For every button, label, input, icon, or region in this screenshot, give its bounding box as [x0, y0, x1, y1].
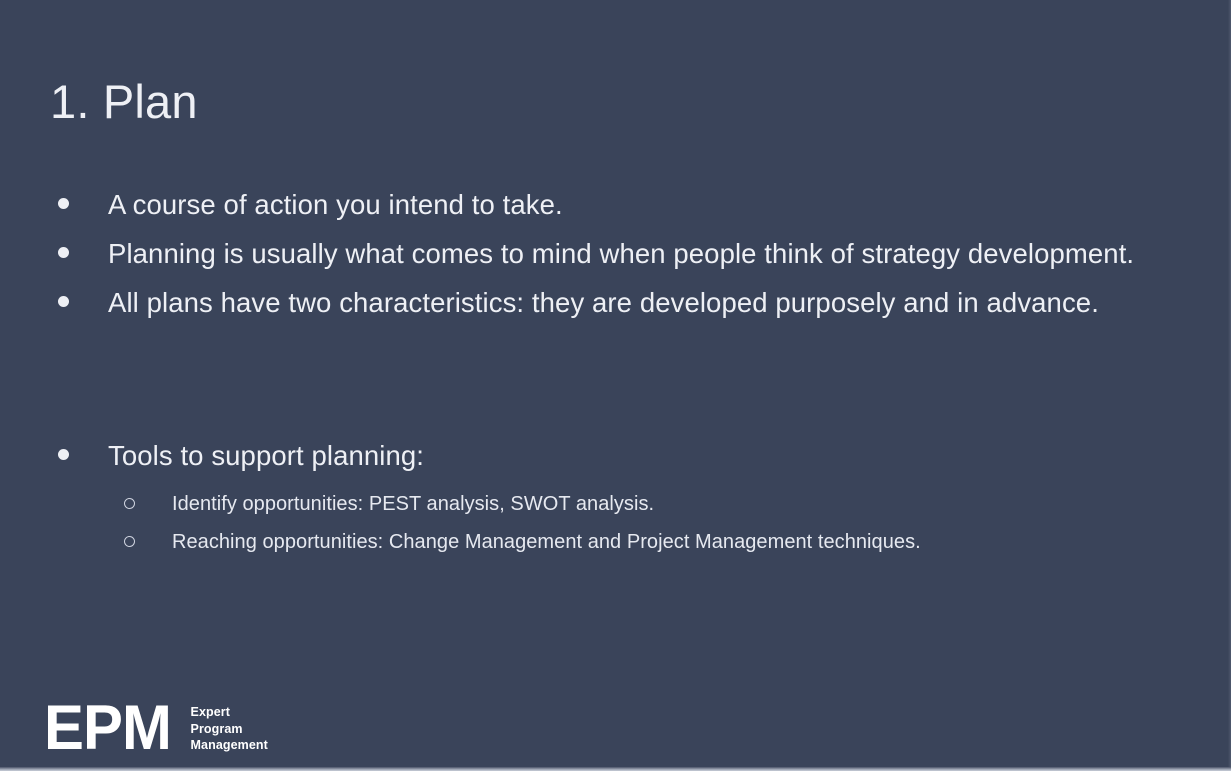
epm-logo-line-3: Management	[191, 737, 268, 754]
bullet-text: All plans have two characteristics: they…	[108, 279, 1160, 326]
bullet-disc-icon	[50, 230, 108, 277]
bullet-item: Planning is usually what comes to mind w…	[50, 230, 1160, 277]
empty-bullet-spacer	[50, 328, 1160, 432]
sub-bullet-item: Identify opportunities: PEST analysis, S…	[50, 487, 1160, 522]
sub-bullet-list: Identify opportunities: PEST analysis, S…	[50, 487, 1160, 560]
epm-logo-line-2: Program	[191, 721, 268, 738]
epm-logo-mark: EPM	[44, 700, 171, 758]
presentation-slide: 1. Plan A course of action you intend to…	[0, 0, 1231, 771]
sub-bullet-text: Reaching opportunities: Change Managemen…	[172, 525, 1160, 560]
bullet-disc-icon	[50, 279, 108, 326]
bullet-item: All plans have two characteristics: they…	[50, 279, 1160, 326]
slide-body-content: A course of action you intend to take. P…	[50, 181, 1160, 563]
bullet-text: A course of action you intend to take.	[108, 181, 1160, 228]
slide-bottom-edge	[0, 767, 1231, 771]
bullet-text: Tools to support planning:	[108, 432, 1160, 479]
sub-bullet-text: Identify opportunities: PEST analysis, S…	[172, 487, 1160, 522]
sub-bullet-item: Reaching opportunities: Change Managemen…	[50, 525, 1160, 560]
bullet-text: Planning is usually what comes to mind w…	[108, 230, 1160, 277]
epm-logo-wordmark: Expert Program Management	[191, 704, 268, 754]
bullet-item: Tools to support planning:	[50, 432, 1160, 479]
bullet-ring-icon	[50, 525, 172, 560]
slide-title: 1. Plan	[50, 76, 198, 128]
bullet-item: A course of action you intend to take.	[50, 181, 1160, 228]
bullet-disc-icon	[50, 181, 108, 228]
epm-logo: EPM Expert Program Management	[44, 700, 268, 758]
bullet-disc-icon	[50, 432, 108, 479]
epm-logo-line-1: Expert	[191, 704, 268, 721]
bullet-ring-icon	[50, 487, 172, 522]
